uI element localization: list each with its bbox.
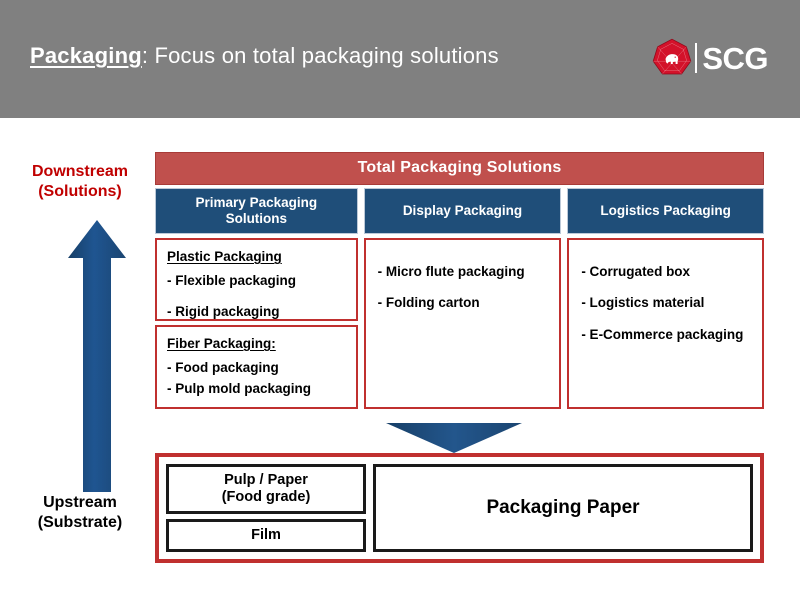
fiber-packaging-title: Fiber Packaging: (167, 336, 346, 351)
logistics-packaging-box[interactable]: - Corrugated box - Logistics material - … (567, 238, 764, 409)
display-packaging-box[interactable]: - Micro flute packaging - Folding carton (364, 238, 562, 409)
column-body-logistics-packaging: - Corrugated box - Logistics material - … (567, 238, 764, 409)
logo-text: SCG (702, 43, 768, 74)
plastic-packaging-title: Plastic Packaging (167, 249, 346, 264)
column-header-primary-packaging[interactable]: Primary Packaging Solutions (155, 188, 358, 234)
plastic-packaging-box[interactable]: Plastic Packaging - Flexible packaging -… (155, 238, 358, 321)
column-body-row: Plastic Packaging - Flexible packaging -… (155, 238, 764, 409)
list-item: - Food packaging (167, 358, 346, 379)
column-header-logistics-packaging[interactable]: Logistics Packaging (567, 188, 764, 234)
column-header-primary-line2: Solutions (196, 211, 318, 227)
column-header-row: Primary Packaging Solutions Display Pack… (155, 188, 764, 234)
list-item: - Pulp mold packaging (167, 379, 346, 400)
list-item: - Logistics material (581, 293, 750, 313)
list-item: - E-Commerce packaging (581, 325, 750, 346)
column-header-primary-line1: Primary Packaging (196, 195, 318, 211)
list-item: - Micro flute packaging (378, 262, 548, 282)
total-packaging-solutions-bar: Total Packaging Solutions (155, 152, 764, 185)
down-arrow-icon (386, 423, 522, 453)
page-title: Packaging: Focus on total packaging solu… (30, 43, 499, 69)
upstream-label-line2: (Substrate) (0, 513, 160, 533)
substrate-band: Pulp / Paper (Food grade) Film Packaging… (155, 453, 764, 563)
list-item: - Corrugated box (581, 262, 750, 282)
packaging-diagram: Total Packaging Solutions Primary Packag… (155, 152, 764, 409)
downstream-label: Downstream (Solutions) (0, 162, 160, 201)
column-header-display-packaging[interactable]: Display Packaging (364, 188, 562, 234)
list-item: - Flexible packaging (167, 271, 346, 291)
packaging-paper-box[interactable]: Packaging Paper (373, 464, 753, 552)
scg-hexagon-elephant-logo-icon (652, 38, 692, 78)
downstream-label-line2: (Solutions) (0, 182, 160, 202)
pulp-paper-line2: (Food grade) (222, 489, 311, 506)
list-item: - Folding carton (378, 293, 548, 314)
upstream-label: Upstream (Substrate) (0, 493, 160, 532)
downstream-label-line1: Downstream (0, 162, 160, 182)
logo-divider (695, 43, 697, 73)
film-box[interactable]: Film (166, 519, 366, 552)
fiber-packaging-box[interactable]: Fiber Packaging: - Food packaging - Pulp… (155, 325, 358, 409)
upstream-label-line1: Upstream (0, 493, 160, 513)
scg-logo: SCG (652, 36, 768, 80)
column-body-primary-packaging: Plastic Packaging - Flexible packaging -… (155, 238, 358, 409)
substrate-left-group: Pulp / Paper (Food grade) Film (166, 464, 366, 552)
list-item: - Rigid packaging (167, 302, 346, 323)
up-arrow-icon (66, 220, 128, 492)
pulp-paper-box[interactable]: Pulp / Paper (Food grade) (166, 464, 366, 514)
page-title-rest: : Focus on total packaging solutions (142, 43, 499, 68)
column-body-display-packaging: - Micro flute packaging - Folding carton (364, 238, 562, 409)
pulp-paper-line1: Pulp / Paper (222, 472, 311, 489)
page-title-keyword: Packaging (30, 43, 142, 68)
